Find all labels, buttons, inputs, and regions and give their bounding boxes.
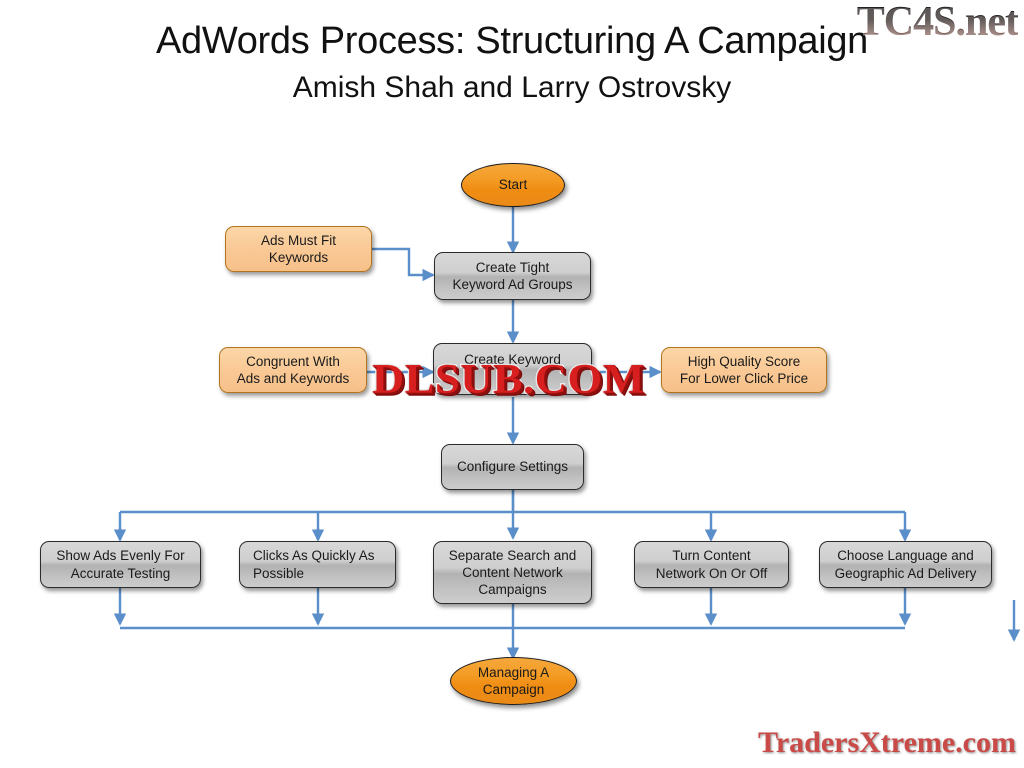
node-create-tight-keyword-ad-groups-label: Create Tight Keyword Ad Groups: [435, 259, 590, 294]
watermark-tc4s: TC4S.net: [857, 0, 1018, 46]
line-2: Possible: [253, 566, 304, 581]
node-managing-a-campaign-label: Managing A Campaign: [451, 664, 576, 699]
node-show-ads-evenly-label: Show Ads Evenly For Accurate Testing: [41, 547, 200, 582]
node-separate-search-content[interactable]: Separate Search and Content Network Camp…: [433, 541, 592, 604]
line-1: Separate Search and: [449, 548, 577, 563]
node-choose-language-geographic-label: Choose Language and Geographic Ad Delive…: [820, 547, 991, 582]
node-start[interactable]: Start: [461, 163, 565, 207]
node-high-quality-score-label: High Quality Score For Lower Click Price: [662, 353, 826, 388]
node-configure-settings-label: Configure Settings: [442, 458, 583, 475]
line-2: For Lower Click Price: [680, 371, 808, 386]
watermark-dlsub: DLSUB.COM: [372, 356, 645, 404]
node-managing-a-campaign[interactable]: Managing A Campaign: [450, 657, 577, 705]
line-1: High Quality Score: [688, 354, 801, 369]
line-2: Content Network: [462, 565, 563, 580]
line-1: Managing A: [478, 665, 549, 680]
node-congruent-with-ads-and-keywords-label: Congruent With Ads and Keywords: [220, 353, 366, 388]
node-separate-search-content-label: Separate Search and Content Network Camp…: [434, 547, 591, 599]
node-configure-settings[interactable]: Configure Settings: [441, 444, 584, 490]
line-1: Ads Must Fit: [261, 233, 336, 248]
line-2: Network On Or Off: [656, 566, 768, 581]
node-turn-content-network[interactable]: Turn Content Network On Or Off: [634, 541, 789, 588]
line-1: Turn Content: [672, 548, 750, 563]
watermark-tradersxtreme: TradersXtreme.com: [758, 726, 1016, 760]
node-start-label: Start: [462, 176, 564, 193]
line-2: Accurate Testing: [71, 566, 171, 581]
node-turn-content-network-label: Turn Content Network On Or Off: [635, 547, 788, 582]
node-high-quality-score[interactable]: High Quality Score For Lower Click Price: [661, 347, 827, 393]
line-2: Ads and Keywords: [237, 371, 350, 386]
line-2: Geographic Ad Delivery: [835, 566, 977, 581]
line-1: Clicks As Quickly As: [253, 548, 375, 563]
node-choose-language-geographic[interactable]: Choose Language and Geographic Ad Delive…: [819, 541, 992, 588]
node-ads-must-fit-keywords[interactable]: Ads Must Fit Keywords: [225, 226, 372, 272]
line-1: Congruent With: [246, 354, 340, 369]
node-show-ads-evenly[interactable]: Show Ads Evenly For Accurate Testing: [40, 541, 201, 588]
line-1: Show Ads Evenly For: [56, 548, 184, 563]
line-2: Keyword Ad Groups: [452, 277, 572, 292]
node-clicks-as-quickly-label: Clicks As Quickly As Possible: [240, 547, 395, 582]
line-1: Choose Language and: [837, 548, 974, 563]
line-2: Campaign: [483, 682, 545, 697]
line-1: Create Tight: [476, 260, 550, 275]
node-ads-must-fit-keywords-label: Ads Must Fit Keywords: [226, 232, 371, 267]
line-3: Campaigns: [478, 582, 546, 597]
node-congruent-with-ads-and-keywords[interactable]: Congruent With Ads and Keywords: [219, 347, 367, 393]
node-create-tight-keyword-ad-groups[interactable]: Create Tight Keyword Ad Groups: [434, 252, 591, 300]
line-2: Keywords: [269, 250, 328, 265]
node-clicks-as-quickly[interactable]: Clicks As Quickly As Possible: [239, 541, 396, 588]
